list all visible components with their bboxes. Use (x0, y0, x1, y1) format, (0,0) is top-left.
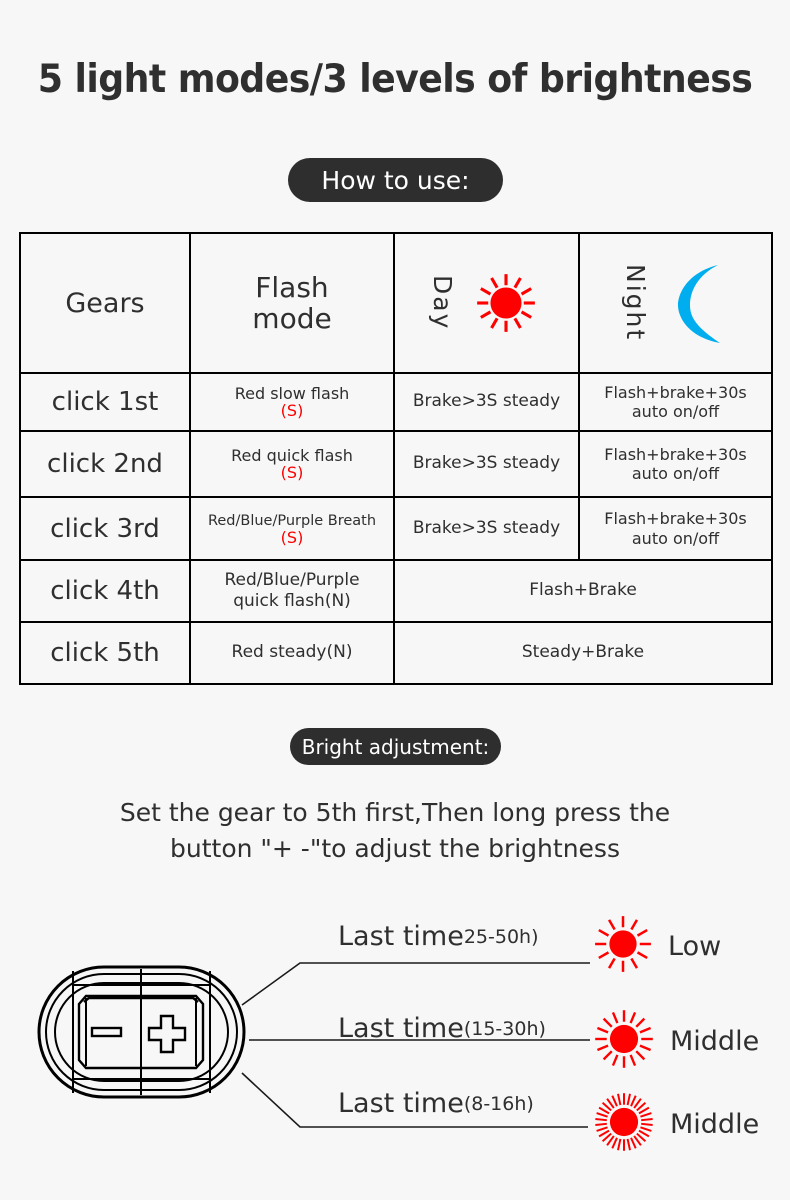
gear-label: click 1st (52, 387, 159, 417)
table-row: click 3rd Red/Blue/Purple Breath (S) Bra… (20, 497, 772, 560)
flash-mode-flag: (S) (193, 403, 391, 420)
night-cell: Flash+brake+30s auto on/off (579, 431, 772, 497)
last-time-duration: (8-16h) (464, 1093, 534, 1115)
night-text-line2: auto on/off (632, 464, 719, 483)
last-time-duration: (15-30h) (464, 1018, 546, 1040)
flash-mode-cell: Red/Blue/Purple quick flash(N) (190, 560, 394, 622)
night-text-line2: auto on/off (632, 402, 719, 421)
night-cell: Flash+brake+30s auto on/off (579, 497, 772, 560)
table-row: click 1st Red slow flash (S) Brake>3S st… (20, 373, 772, 431)
merged-day-night-cell: Steady+Brake (394, 622, 772, 684)
level-label: Middle (670, 1109, 759, 1140)
brightness-legend-row: Last time (15-30h) (338, 1013, 546, 1044)
gear-cell: click 3rd (20, 497, 190, 560)
instruction-line-2: button "+ -"to adjust the brightness (45, 831, 745, 867)
flash-mode-flag: (S) (193, 465, 391, 482)
gear-label: click 2nd (47, 449, 163, 479)
day-cell: Brake>3S steady (394, 373, 579, 431)
sun-icon (592, 913, 654, 979)
header-cell-day: Day (394, 233, 579, 373)
level-label: Low (668, 931, 721, 962)
brightness-legend-row: Last time 25-50h) (338, 921, 539, 952)
header-label-flash-line2: mode (193, 303, 391, 334)
night-cell: Flash+brake+30s auto on/off (579, 373, 772, 431)
flash-mode-text: Red/Blue/Purple Breath (208, 513, 376, 529)
page-title: 5 light modes/3 levels of brightness (28, 57, 763, 102)
last-time-duration: 25-50h) (464, 926, 539, 948)
modes-table: Gears Flash mode Day (19, 232, 773, 685)
table-row: click 4th Red/Blue/Purple quick flash(N)… (20, 560, 772, 622)
gear-label: click 5th (50, 638, 160, 668)
how-to-use-badge: How to use: (288, 158, 503, 202)
flash-mode-line2: quick flash(N) (233, 591, 351, 611)
last-time-label: Last time (338, 1088, 464, 1119)
header-label-flash-line1: Flash (193, 272, 391, 303)
gear-cell: click 2nd (20, 431, 190, 497)
instruction-line-1: Set the gear to 5th first,Then long pres… (45, 795, 745, 831)
flash-mode-text: Red quick flash (231, 446, 353, 465)
night-text-line1: Flash+brake+30s (604, 445, 747, 464)
flash-mode-cell: Red steady(N) (190, 622, 394, 684)
header-label-night: Night (623, 264, 648, 341)
day-cell: Brake>3S steady (394, 497, 579, 560)
gear-label: click 3rd (50, 514, 160, 544)
sun-icon (592, 1007, 656, 1075)
brightness-legend-row: Last time (8-16h) (338, 1088, 534, 1119)
table-header-row: Gears Flash mode Day (20, 233, 772, 373)
bright-adjustment-badge: Bright adjustment: (290, 728, 501, 765)
flash-mode-cell: Red quick flash (S) (190, 431, 394, 497)
sun-icon (592, 1090, 656, 1158)
level-label: Middle (670, 1026, 759, 1057)
last-time-label: Last time (338, 921, 464, 952)
day-cell: Brake>3S steady (394, 431, 579, 497)
table-row: click 2nd Red quick flash (S) Brake>3S s… (20, 431, 772, 497)
gear-label: click 4th (50, 576, 160, 606)
flash-mode-flag: (S) (193, 530, 391, 547)
night-text-line1: Flash+brake+30s (604, 509, 747, 528)
merged-day-night-cell: Flash+Brake (394, 560, 772, 622)
header-label-gears: Gears (23, 288, 187, 319)
minus-button-glyph (92, 1028, 121, 1036)
moon-icon (662, 261, 728, 345)
plus-button-glyph (149, 1016, 185, 1052)
gear-cell: click 5th (20, 622, 190, 684)
gear-cell: click 1st (20, 373, 190, 431)
brightness-level-low: Low (592, 913, 721, 979)
instructions-block: Set the gear to 5th first,Then long pres… (45, 795, 745, 866)
header-cell-gears: Gears (20, 233, 190, 373)
flash-mode-line1: Red/Blue/Purple (224, 570, 359, 590)
flash-mode-cell: Red/Blue/Purple Breath (S) (190, 497, 394, 560)
merged-value: Steady+Brake (522, 642, 644, 662)
gear-cell: click 4th (20, 560, 190, 622)
header-label-day: Day (430, 275, 455, 330)
sun-icon (469, 266, 543, 340)
day-text: Brake>3S steady (413, 453, 560, 473)
remote-control-illustration (34, 962, 249, 1102)
brightness-level-high: Middle (592, 1090, 759, 1158)
brightness-level-middle: Middle (592, 1007, 759, 1075)
night-text-line2: auto on/off (632, 529, 719, 548)
table-row: click 5th Red steady(N) Steady+Brake (20, 622, 772, 684)
last-time-label: Last time (338, 1013, 464, 1044)
flash-mode-line1: Red steady(N) (232, 642, 353, 662)
header-cell-flash-mode: Flash mode (190, 233, 394, 373)
merged-value: Flash+Brake (529, 580, 637, 600)
day-text: Brake>3S steady (413, 518, 560, 538)
flash-mode-text: Red slow flash (235, 384, 350, 403)
flash-mode-cell: Red slow flash (S) (190, 373, 394, 431)
modes-table-container: Gears Flash mode Day (19, 232, 771, 684)
infographic-page: 5 light modes/3 levels of brightness How… (0, 0, 790, 1200)
day-text: Brake>3S steady (413, 391, 560, 411)
header-cell-night: Night (579, 233, 772, 373)
night-text-line1: Flash+brake+30s (604, 383, 747, 402)
